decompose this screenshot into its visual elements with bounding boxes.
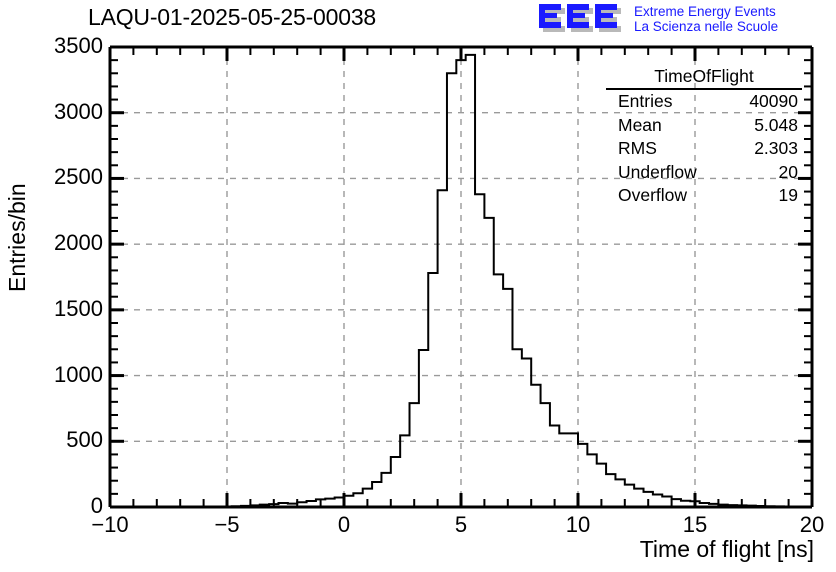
statistics-row: Entries40090	[606, 90, 802, 114]
x-tick-label: 15	[655, 512, 735, 538]
x-tick-label: 20	[772, 512, 836, 538]
statistics-value: 40090	[749, 90, 802, 114]
statistics-row: Underflow20	[606, 161, 802, 185]
statistics-row: RMS2.303	[606, 137, 802, 161]
statistics-key: Underflow	[606, 161, 697, 185]
statistics-key: Overflow	[606, 184, 687, 208]
x-tick-label: 10	[538, 512, 618, 538]
x-axis-title: Time of flight [ns]	[640, 536, 814, 563]
statistics-row: Mean5.048	[606, 114, 802, 138]
statistics-title: TimeOfFlight	[606, 66, 802, 90]
root-canvas: LAQU-01-2025-05-25-00038	[0, 0, 836, 572]
y-tick-label: 1000	[3, 362, 103, 388]
statistics-key: Mean	[606, 114, 662, 138]
statistics-value: 5.048	[754, 114, 802, 138]
y-tick-label: 1500	[3, 296, 103, 322]
statistics-value: 2.303	[754, 137, 802, 161]
statistics-rows: Entries40090Mean5.048RMS2.303Underflow20…	[606, 90, 802, 208]
x-tick-label: −5	[187, 512, 267, 538]
x-tick-label: 0	[304, 512, 384, 538]
statistics-key: RMS	[606, 137, 657, 161]
statistics-box: TimeOfFlight Entries40090Mean5.048RMS2.3…	[606, 66, 802, 208]
statistics-value: 20	[779, 161, 802, 185]
y-axis-title: Entries/bin	[4, 52, 31, 292]
y-tick-label: 500	[3, 427, 103, 453]
statistics-key: Entries	[606, 90, 672, 114]
x-tick-label: 5	[421, 512, 501, 538]
statistics-value: 19	[779, 184, 802, 208]
statistics-row: Overflow19	[606, 184, 802, 208]
x-tick-label: −10	[70, 512, 150, 538]
